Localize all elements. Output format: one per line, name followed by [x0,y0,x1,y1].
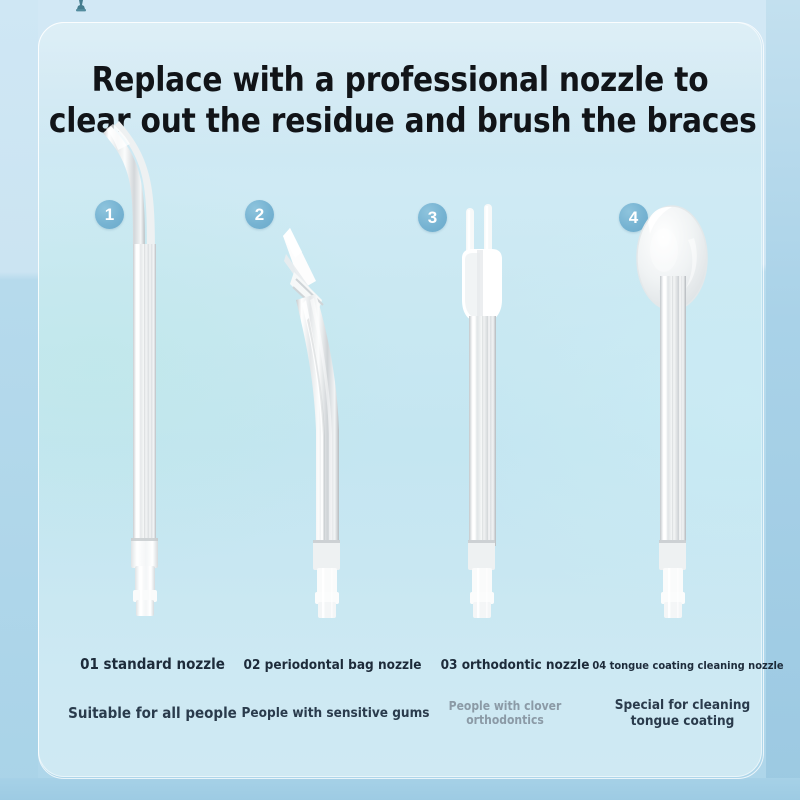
dual-prong-orthodontic-nozzle-icon [420,0,570,755]
nozzle-image-3 [420,0,570,755]
nozzle-label-4: 04 tongue coating cleaning nozzle [578,659,798,672]
nozzle-image-4 [600,0,750,755]
tapered-cone-nozzle-icon [250,0,400,755]
nozzle-description-3: People with clover orthodontics [430,700,580,728]
nozzle-image-2 [250,0,400,755]
background-bottom-band [0,778,800,800]
nozzle-image-1 [75,0,225,755]
curved-tube-nozzle-icon [75,0,225,755]
infographic-canvas: Replace with a professional nozzle to cl… [0,0,800,800]
background-right-band [766,0,800,800]
nozzle-description-2: People with sensitive gums [228,706,443,722]
nozzle-description-4: Special for cleaning tongue coating [600,698,765,729]
background-left-band [0,0,38,800]
spoon-tongue-scraper-nozzle-icon [600,0,750,755]
nozzle-label-2: 02 periodontal bag nozzle [225,657,440,673]
